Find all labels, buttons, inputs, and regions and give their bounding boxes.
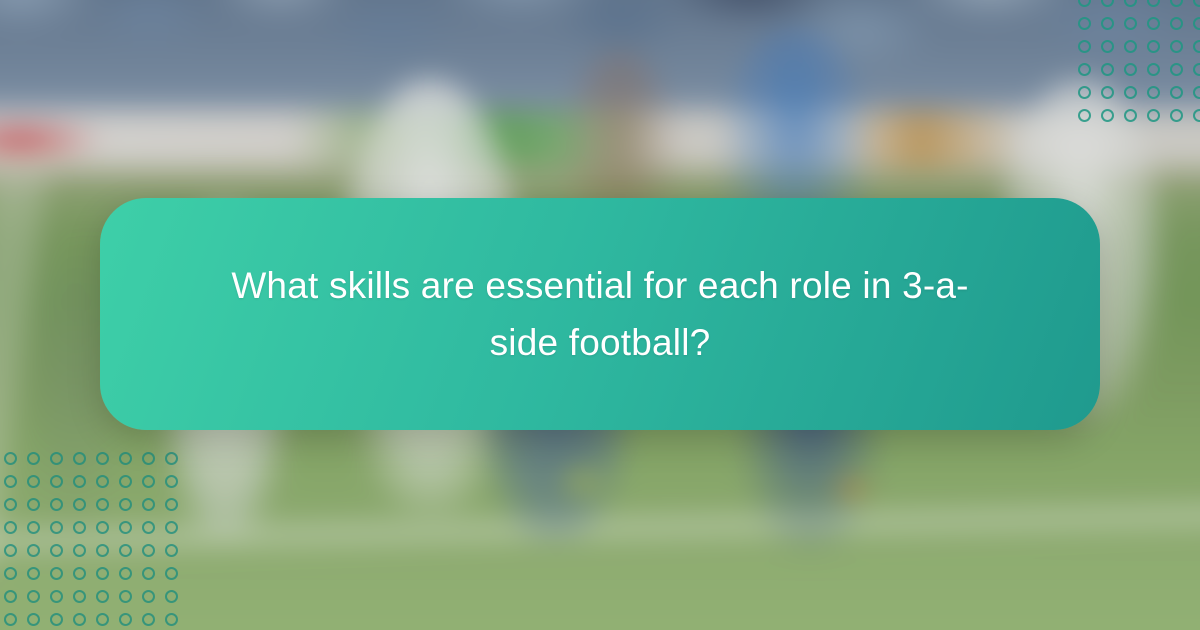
decorative-dot: [1101, 86, 1114, 99]
decorative-dot: [1147, 40, 1160, 53]
decorative-dot: [73, 567, 86, 580]
decorative-dot: [4, 590, 17, 603]
decorative-dot: [1101, 17, 1114, 30]
decorative-dot: [119, 613, 132, 626]
decorative-dot: [142, 498, 155, 511]
decorative-dot: [165, 590, 178, 603]
decorative-dot: [73, 590, 86, 603]
decorative-dot: [1101, 0, 1114, 7]
decorative-dot: [142, 567, 155, 580]
decorative-dot: [1078, 40, 1091, 53]
decorative-dot: [96, 567, 109, 580]
decorative-dot: [1147, 17, 1160, 30]
decorative-dot: [1147, 63, 1160, 76]
decorative-dot: [119, 567, 132, 580]
decorative-dot: [27, 521, 40, 534]
decorative-dot: [50, 567, 63, 580]
decorative-dot: [165, 567, 178, 580]
decorative-dot: [1170, 109, 1183, 122]
decorative-dot: [73, 452, 86, 465]
decorative-dot: [119, 475, 132, 488]
decorative-dot: [142, 613, 155, 626]
decorative-dot: [1147, 0, 1160, 7]
decorative-dot: [142, 452, 155, 465]
decorative-dot: [27, 567, 40, 580]
decorative-dot: [50, 544, 63, 557]
decorative-dot: [1078, 17, 1091, 30]
decorative-dot: [73, 613, 86, 626]
decorative-dot: [73, 544, 86, 557]
decorative-dots-bottom-left: [4, 452, 178, 626]
decorative-dot: [1124, 63, 1137, 76]
decorative-dot: [1124, 17, 1137, 30]
decorative-dot: [1170, 17, 1183, 30]
decorative-dot: [1193, 40, 1200, 53]
decorative-dot: [142, 475, 155, 488]
decorative-dot: [1170, 0, 1183, 7]
decorative-dot: [1147, 86, 1160, 99]
decorative-dot: [1078, 109, 1091, 122]
decorative-dot: [1147, 109, 1160, 122]
decorative-dot: [50, 521, 63, 534]
decorative-dot: [27, 498, 40, 511]
decorative-dot: [119, 521, 132, 534]
decorative-dot: [1124, 86, 1137, 99]
decorative-dot: [142, 521, 155, 534]
decorative-dot: [1078, 86, 1091, 99]
decorative-dot: [1170, 63, 1183, 76]
social-card-canvas: What skills are essential for each role …: [0, 0, 1200, 630]
decorative-dot: [1193, 86, 1200, 99]
decorative-dot: [165, 613, 178, 626]
decorative-dot: [50, 613, 63, 626]
decorative-dot: [96, 613, 109, 626]
decorative-dot: [1101, 109, 1114, 122]
decorative-dot: [50, 590, 63, 603]
decorative-dot: [1193, 63, 1200, 76]
decorative-dot: [165, 498, 178, 511]
decorative-dot: [1078, 63, 1091, 76]
decorative-dot: [96, 544, 109, 557]
decorative-dot: [119, 590, 132, 603]
decorative-dot: [27, 613, 40, 626]
decorative-dot: [27, 475, 40, 488]
decorative-dot: [1193, 0, 1200, 7]
decorative-dot: [142, 590, 155, 603]
decorative-dot: [1124, 40, 1137, 53]
decorative-dot: [50, 452, 63, 465]
decorative-dot: [142, 544, 155, 557]
decorative-dot: [50, 498, 63, 511]
decorative-dot: [165, 544, 178, 557]
decorative-dot: [1170, 86, 1183, 99]
decorative-dot: [1101, 40, 1114, 53]
decorative-dot: [4, 475, 17, 488]
decorative-dot: [4, 613, 17, 626]
decorative-dot: [4, 521, 17, 534]
decorative-dot: [96, 498, 109, 511]
decorative-dots-top-right: [1078, 0, 1200, 122]
question-card: What skills are essential for each role …: [100, 198, 1100, 430]
decorative-dot: [1193, 17, 1200, 30]
question-text: What skills are essential for each role …: [220, 257, 980, 372]
decorative-dot: [27, 544, 40, 557]
decorative-dot: [4, 544, 17, 557]
decorative-dot: [96, 590, 109, 603]
decorative-dot: [1170, 40, 1183, 53]
decorative-dot: [165, 452, 178, 465]
decorative-dot: [73, 498, 86, 511]
decorative-dot: [1124, 0, 1137, 7]
decorative-dot: [165, 521, 178, 534]
decorative-dot: [73, 521, 86, 534]
decorative-dot: [73, 475, 86, 488]
decorative-dot: [1124, 109, 1137, 122]
decorative-dot: [96, 521, 109, 534]
decorative-dot: [1078, 0, 1091, 7]
decorative-dot: [96, 475, 109, 488]
decorative-dot: [27, 590, 40, 603]
decorative-dot: [119, 544, 132, 557]
decorative-dot: [119, 498, 132, 511]
decorative-dot: [165, 475, 178, 488]
decorative-dot: [1193, 109, 1200, 122]
decorative-dot: [96, 452, 109, 465]
decorative-dot: [1101, 63, 1114, 76]
decorative-dot: [4, 452, 17, 465]
decorative-dot: [50, 475, 63, 488]
decorative-dot: [4, 567, 17, 580]
decorative-dot: [4, 498, 17, 511]
decorative-dot: [119, 452, 132, 465]
decorative-dot: [27, 452, 40, 465]
